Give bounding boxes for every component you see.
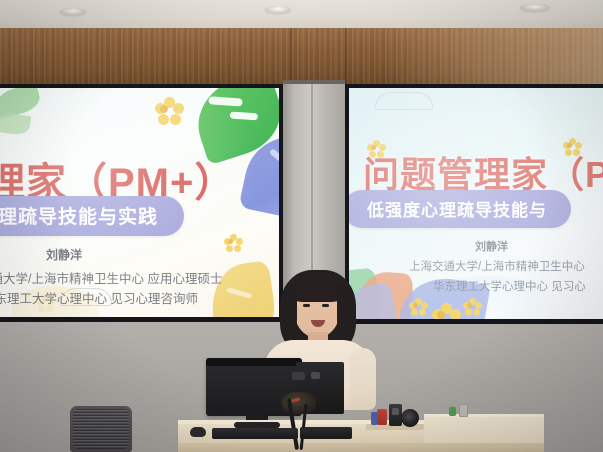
mouse [190, 427, 206, 437]
left-presenter-affiliation-2: 华东理工大学心理中心 见习心理咨询师 [0, 288, 198, 307]
wood-panel-seam [345, 28, 347, 84]
right-eye [322, 304, 329, 307]
hair-left-side [282, 284, 297, 342]
green-frond-icon [0, 112, 31, 137]
cloud-outline-icon [375, 92, 433, 110]
wood-panel-light-glow [380, 28, 603, 84]
monitor-port [292, 372, 305, 380]
left-screen-surface[interactable]: 管理家（PM+） 强度心理疏导技能与实践 刘静洋 交通大学/上海市精神卫生中心 … [0, 88, 279, 317]
right-presenter-affiliation-1: 上海交通大学/上海市精神卫生中心 [409, 258, 585, 274]
right-slide: 问题管理家（P 低强度心理疏导技能与 刘静洋 上海交通大学/上海市精神卫生中心 … [349, 88, 603, 319]
camera-lens [401, 409, 419, 427]
conference-room-photo: 管理家（PM+） 强度心理疏导技能与实践 刘静洋 交通大学/上海市精神卫生中心 … [0, 0, 603, 452]
hair-right-side [337, 284, 352, 342]
right-screen-bezel[interactable]: 问题管理家（P 低强度心理疏导技能与 刘静洋 上海交通大学/上海市精神卫生中心 … [345, 84, 603, 324]
left-eye [303, 304, 310, 307]
left-slide-subtitle: 强度心理疏导技能与实践 [0, 196, 184, 236]
left-screen-bezel[interactable]: 管理家（PM+） 强度心理疏导技能与实践 刘静洋 交通大学/上海市精神卫生中心 … [0, 84, 283, 322]
left-presenter-affiliation-1: 交通大学/上海市精神卫生中心 应用心理硕士 [0, 268, 222, 287]
ceiling-downlight-3-icon [520, 4, 550, 11]
monitor-top-edge [206, 358, 302, 366]
monitor-port [311, 372, 320, 379]
right-screen-surface[interactable]: 问题管理家（P 低强度心理疏导技能与 刘静洋 上海交通大学/上海市精神卫生中心 … [349, 88, 603, 319]
right-slide-subtitle: 低强度心理疏导技能与 [349, 190, 571, 228]
left-slide: 管理家（PM+） 强度心理疏导技能与实践 刘静洋 交通大学/上海市精神卫生中心 … [0, 88, 279, 317]
pillar-top-edge [283, 80, 345, 84]
desk-front-edge [178, 443, 544, 452]
red-object [377, 409, 387, 425]
black-device [389, 404, 402, 426]
green-indicator [449, 407, 456, 416]
right-presenter-affiliation-2: 华东理工大学心理中心 见习心 [433, 278, 586, 294]
wood-panel-seam [290, 28, 292, 84]
ceiling [0, 0, 603, 30]
ceiling-downlight-2-icon [265, 6, 291, 13]
keyboard [212, 428, 298, 439]
right-arm [350, 348, 376, 410]
second-keyboard [300, 427, 352, 439]
wall-socket [459, 404, 468, 417]
left-presenter-name: 刘静洋 [46, 246, 82, 263]
ceiling-downlight-1-icon [60, 8, 86, 15]
right-presenter-name: 刘静洋 [475, 238, 508, 254]
office-chair [70, 406, 132, 452]
